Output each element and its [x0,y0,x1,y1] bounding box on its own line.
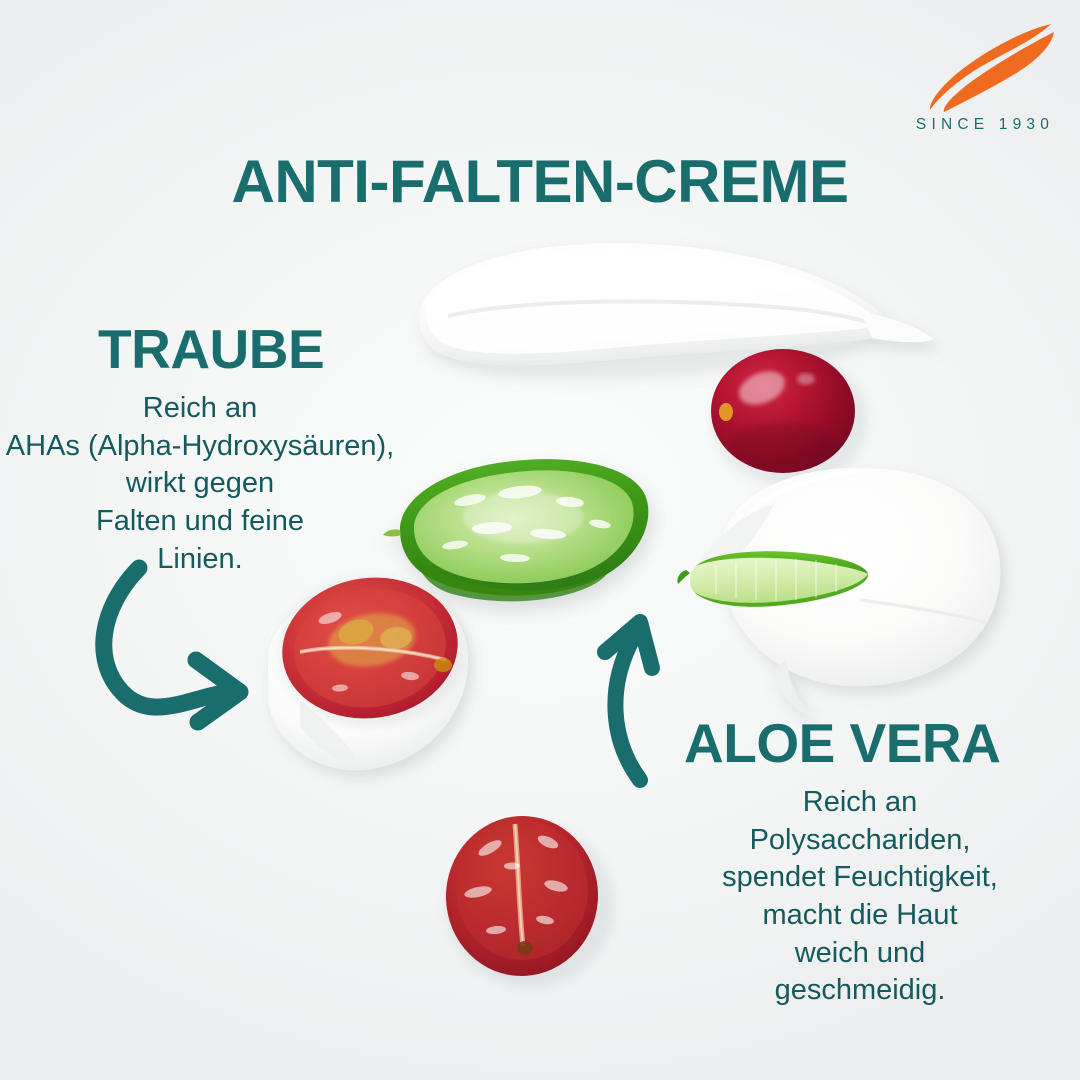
flame-leaf-logo-icon [920,18,1060,113]
brand-logo: SINCE 1930 [900,18,1070,148]
curved-arrow-right-icon [104,568,240,722]
page-title: ANTI-FALTEN-CREME [0,147,1080,216]
ingredient-heading-aloe-vera: ALOE VERA [684,716,1000,771]
ingredient-heading-traube: TRAUBE [98,322,324,377]
ingredient-body-aloe-vera: Reich an Polysacchariden, spendet Feucht… [660,784,1060,1010]
brand-tagline: SINCE 1930 [900,116,1070,134]
curved-arrow-up-icon [605,622,652,780]
ingredient-body-traube: Reich an AHAs (Alpha-Hydroxysäuren), wir… [0,390,400,578]
poster-canvas: SINCE 1930 ANTI-FALTEN-CREME TRAUBE Reic… [0,0,1080,1080]
